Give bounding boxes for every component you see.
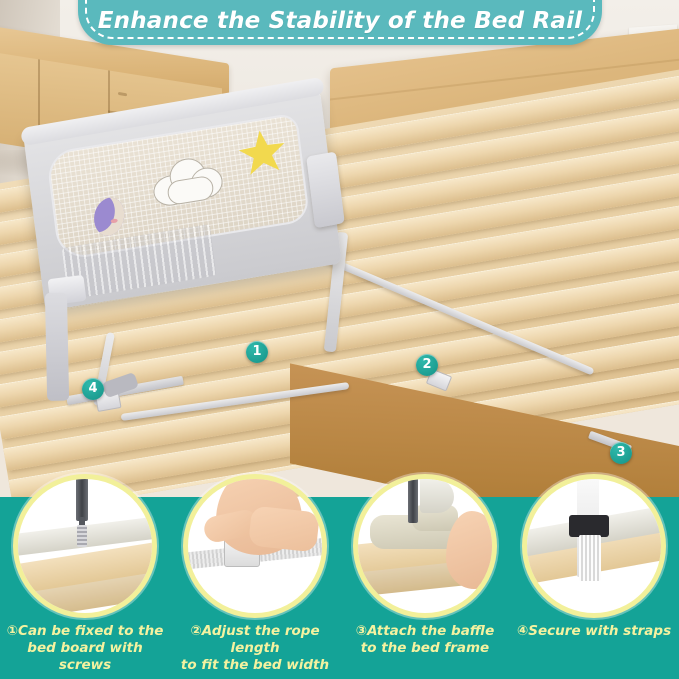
bed-rail-guard xyxy=(9,61,353,329)
step-3-caption: ③Attach the baffleto the bed frame xyxy=(342,623,508,657)
photo-marker-2: 2 xyxy=(416,354,438,376)
step-2: ②Adjust the rope lengthto fit the bed wi… xyxy=(170,497,340,679)
page-title: Enhance the Stability of the Bed Rail xyxy=(78,8,602,34)
steps-strip: ①Can be fixed to thebed board with screw… xyxy=(0,497,679,679)
step-1-image xyxy=(18,479,152,613)
step-3-image xyxy=(358,479,492,613)
step-3: ③Attach the baffleto the bed frame xyxy=(340,497,510,679)
step-4-image xyxy=(527,479,661,613)
step-2-image xyxy=(188,479,322,613)
main-product-photo: 1 2 3 4 xyxy=(0,0,679,505)
photo-marker-3: 3 xyxy=(610,442,632,464)
bed-rail-support-leg xyxy=(45,293,69,401)
screw-icon xyxy=(77,525,87,547)
photo-marker-1: 1 xyxy=(246,341,268,363)
step-4-caption: ④Secure with straps xyxy=(511,623,677,640)
screwdriver-icon xyxy=(76,479,88,521)
photo-marker-4: 4 xyxy=(82,378,104,400)
infographic-root: 1 2 3 4 Enhance the Stability of the Bed… xyxy=(0,0,679,679)
step-2-caption: ②Adjust the rope lengthto fit the bed wi… xyxy=(172,623,338,674)
title-banner: Enhance the Stability of the Bed Rail xyxy=(78,0,602,45)
step-4: ④Secure with straps xyxy=(509,497,679,679)
step-1-caption: ①Can be fixed to thebed board with screw… xyxy=(2,623,168,674)
strap-buckle-icon xyxy=(569,515,609,537)
screwdriver-icon xyxy=(408,479,418,523)
step-1: ①Can be fixed to thebed board with screw… xyxy=(0,497,170,679)
